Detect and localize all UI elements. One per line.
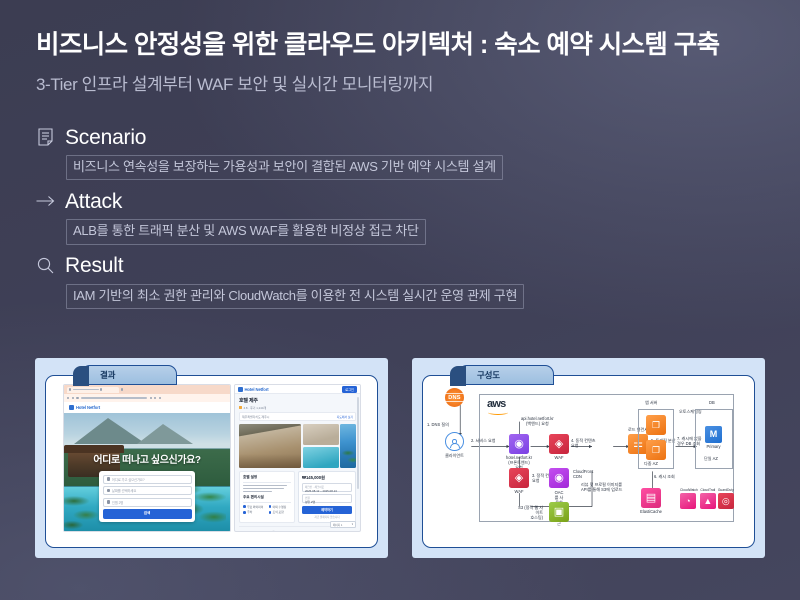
amenity-item: 무료 와이파이 [243, 505, 266, 509]
divider [243, 482, 291, 483]
monitoring-services: CloudWatch ◔ CloudTrail ▲ GuardDuty ◎ [680, 488, 734, 509]
section-title: Attack [65, 191, 122, 212]
edge-label-4: 4. 동적 컨텐츠 요청 [571, 438, 596, 448]
edge-label-6: 6. 캐시 조회 [654, 474, 675, 479]
node-dns: DNS DNS [445, 388, 464, 407]
browser-chrome [64, 385, 230, 394]
cloudwatch-icon: ◔ [680, 493, 696, 509]
hotel-detail-window: Hotel Netfort 로그인 호텔 제주 4.8 · 후기 1,240개 [234, 384, 361, 532]
panel-tab-result[interactable]: 결과 [81, 365, 177, 385]
brand-logo-icon [238, 387, 243, 392]
date-range-field[interactable]: 체크인 · 체크아웃 2025-08-12 ~ 2025-08-13 [302, 483, 352, 492]
panel-card-architecture: aws DNS DNS 1. DNS 질의 클라이언트 [422, 375, 755, 548]
panel-tab-label: 결과 [100, 369, 115, 381]
elasticache-icon: ▤ [641, 488, 661, 508]
reload-icon[interactable] [76, 397, 78, 399]
browser-url-bar[interactable] [64, 394, 230, 402]
check-icon [243, 511, 246, 514]
amenity-label: 조식 포함 [273, 510, 284, 514]
detail-body: 호텔 제주 4.8 · 후기 1,240개 제주특별자치도 제주시 지도에서 보… [235, 394, 360, 532]
destination-input[interactable]: 어디로 가고 싶으신가요? [103, 475, 192, 484]
db-label: DB [709, 400, 715, 405]
close-icon[interactable] [100, 388, 102, 390]
node-cloudfront-frontend: ◉ hotel.netfort.kr (프론트엔드) 요청 [509, 434, 529, 454]
menu-icon[interactable] [159, 397, 161, 399]
person-icon [107, 500, 110, 503]
section-description-wrap: 비즈니스 연속성을 보장하는 가용성과 보안이 결합된 AWS 기반 예약 시스… [36, 155, 776, 180]
guest-field-value: 성인 2명 [305, 500, 349, 504]
aws-smile-icon [488, 410, 508, 415]
hotel-name: 호텔 제주 [239, 397, 356, 404]
landing-page-window: Hotel Netfort 어디로 떠나고 싶으신가요? [63, 384, 231, 532]
date-placeholder: 날짜를 선택하세요 [112, 488, 136, 493]
db-caption: Primary [706, 444, 720, 449]
new-tab-icon[interactable] [121, 388, 123, 390]
panel-tab-label: 구성도 [477, 369, 500, 381]
site-brand[interactable]: Hotel Netfort [64, 402, 230, 413]
back-icon[interactable] [67, 397, 69, 399]
mountain-shape [74, 418, 146, 444]
search-card: 어디로 가고 싶으신가요? 날짜를 선택하세요 인원 2명 [99, 471, 195, 522]
forward-icon[interactable] [72, 397, 74, 399]
booking-widget: ₩145,000원 체크인 · 체크아웃 2025-08-12 ~ 2025-0… [298, 471, 356, 523]
detail-columns: 호텔 설명 주요 편의시설 무료 와이파이 야외 수영장 [239, 471, 356, 523]
section-description-wrap: IAM 기반의 최소 권한 관리와 CloudWatch를 이용한 전 시스템 … [36, 284, 776, 309]
amenity-label: 주차 [247, 510, 252, 514]
monitoring-item: GuardDuty ◎ [718, 488, 734, 509]
amenity-heading: 주요 편의시설 [243, 495, 291, 500]
edge-label-upload: 리뷰 및 프로필 이미지를 API를 통해 S3에 업로드 [581, 482, 622, 492]
book-button[interactable]: 예약하기 [302, 506, 352, 514]
node-label: CloudFront CDN [573, 469, 593, 479]
section-heading: Result [36, 251, 776, 281]
detail-header: Hotel Netfort 로그인 [235, 385, 360, 394]
page-select[interactable]: 페이지 1 ▾ [330, 521, 356, 528]
rating-row: 4.8 · 후기 1,240개 [239, 406, 356, 410]
section-scenario: Scenario 비즈니스 연속성을 보장하는 가용성과 보안이 결합된 AWS… [36, 122, 776, 180]
section-result: Result IAM 기반의 최소 권한 관리와 CloudWatch를 이용한… [36, 251, 776, 309]
destination-placeholder: 어디로 가고 싶으신가요? [112, 477, 145, 482]
edge-label-api: api.hotel.netfort.kr (백엔드) 요청 [521, 416, 554, 426]
section-attack: Attack ALB를 통한 트래픽 분산 및 AWS WAF를 활용한 비정상… [36, 186, 776, 244]
user-client-icon [445, 432, 464, 451]
address-text[interactable] [81, 397, 147, 399]
monitoring-item: CloudWatch ◔ [680, 488, 698, 509]
waf-shield-icon: ◈ [549, 434, 569, 454]
gallery-photo[interactable] [303, 447, 339, 469]
ec2-instance-icon: ❐ [646, 440, 666, 460]
gallery-photo[interactable] [340, 424, 356, 468]
divider [243, 502, 291, 503]
gallery-photo[interactable] [303, 424, 339, 445]
app-server-label: 앱 서버 [645, 400, 657, 406]
node-label: WAF [555, 455, 564, 460]
node-waf-frontend: ◈ WAF [509, 468, 529, 488]
aws-logo-icon: aws [487, 399, 505, 410]
detail-brand[interactable]: Hotel Netfort [238, 387, 269, 392]
node-label: WAF [515, 489, 524, 494]
bookmark-icon[interactable] [150, 397, 152, 399]
date-field-value: 2025-08-12 ~ 2025-08-13 [305, 489, 349, 493]
booking-site-screenshot: Hotel Netfort 어디로 떠나고 싶으신가요? [63, 384, 361, 532]
section-list: Scenario 비즈니스 연속성을 보장하는 가용성과 보안이 결합된 AWS… [36, 122, 776, 315]
check-icon [269, 511, 272, 514]
panel-architecture: 구성도 [412, 358, 765, 558]
check-icon [269, 505, 272, 508]
single-az-label: 단일 AZ [704, 456, 718, 462]
edge-label-2: 2. 서비스 요청 [471, 438, 496, 443]
scrollbar[interactable] [357, 397, 359, 489]
node-cloudfront-cdn: ◉ CloudFront CDN OAC를 사용한 비공개 버킷 접근 [549, 468, 569, 488]
guest-input[interactable]: 인원 2명 [103, 498, 192, 507]
section-heading: Scenario [36, 122, 776, 152]
chevron-down-icon: ▾ [352, 523, 353, 526]
guardduty-icon: ◎ [718, 493, 734, 509]
section-description: IAM 기반의 최소 권한 관리와 CloudWatch를 이용한 전 시스템 … [66, 284, 524, 309]
monitoring-label: CloudTrail [700, 488, 716, 492]
cloudfront-icon: ◉ [549, 468, 569, 488]
section-description: 비즈니스 연속성을 보장하는 가용성과 보안이 결합된 AWS 기반 예약 시스… [66, 155, 503, 180]
panel-result: 결과 [35, 358, 388, 558]
panel-card-result: Hotel Netfort 어디로 떠나고 싶으신가요? [45, 375, 378, 548]
rating-text: 4.8 · 후기 1,240개 [244, 406, 267, 410]
section-title: Scenario [65, 127, 146, 148]
photo-gallery [239, 424, 356, 468]
map-link[interactable]: 지도에서 보기 [337, 415, 353, 419]
extensions-icon[interactable] [154, 397, 156, 399]
page-select-value: 페이지 1 [333, 523, 342, 527]
cloudtrail-icon: ▲ [700, 493, 716, 509]
node-label: ElastiCache [640, 509, 662, 514]
calendar-icon [107, 489, 110, 492]
guest-field[interactable]: 인원 성인 2명 [302, 494, 352, 503]
address-row: 제주특별자치도 제주시 지도에서 보기 [239, 412, 356, 421]
guest-placeholder: 인원 2명 [112, 500, 123, 505]
section-heading: Attack [36, 186, 776, 216]
s3-bucket-icon: ▣ [549, 502, 569, 522]
slide-root: 비즈니스 안정성을 위한 클라우드 아키텍처 : 숙소 예약 시스템 구축 3-… [0, 0, 800, 600]
brand-name: Hotel Netfort [76, 405, 100, 410]
page-subtitle: 3-Tier 인프라 설계부터 WAF 보안 및 실시간 모니터링까지 [36, 70, 776, 95]
node-waf-api: ◈ WAF [549, 434, 569, 454]
brand-name: Hotel Netfort [245, 387, 269, 392]
section-description-wrap: ALB를 통한 트래픽 분산 및 AWS WAF를 활용한 비정상 접근 차단 [36, 219, 776, 244]
route53-dns-icon: DNS [445, 388, 464, 407]
info-text-line [243, 488, 284, 490]
brand-logo-icon [69, 405, 74, 410]
mountain-shape-2 [137, 424, 193, 444]
info-text-line [243, 485, 287, 487]
monitoring-item: CloudTrail ▲ [700, 488, 716, 509]
info-text-line [243, 491, 272, 493]
amenity-grid: 무료 와이파이 야외 수영장 주차 조식 포함 [243, 505, 291, 515]
login-button[interactable]: 로그인 [342, 386, 357, 393]
document-icon [36, 127, 55, 148]
edge-label-1: 1. DNS 질의 [427, 422, 449, 427]
pin-icon [107, 477, 110, 480]
node-app-server-1: ❐ [646, 415, 666, 435]
arrow-right-icon [36, 191, 55, 212]
section-title: Result [65, 255, 123, 276]
node-label: 클라이언트 [445, 453, 464, 458]
page-title: 비즈니스 안정성을 위한 클라우드 아키텍처 : 숙소 예약 시스템 구축 [36, 30, 776, 61]
amenity-label: 무료 와이파이 [247, 505, 263, 509]
check-icon [243, 505, 246, 508]
node-s3: ▣ S3 (정적 웹 사이트 호스팅) [549, 502, 569, 522]
slide-header: 비즈니스 안정성을 위한 클라우드 아키텍처 : 숙소 예약 시스템 구축 3-… [36, 30, 776, 95]
panel-tab-architecture[interactable]: 구성도 [458, 365, 554, 385]
search-icon [36, 255, 55, 276]
amenity-item: 야외 수영장 [269, 505, 292, 509]
node-app-server-2: ❐ [646, 440, 666, 460]
hotel-info-card: 호텔 설명 주요 편의시설 무료 와이파이 야외 수영장 [239, 471, 295, 523]
favicon-icon [69, 388, 71, 390]
section-description: ALB를 통한 트래픽 분산 및 AWS WAF를 활용한 비정상 접근 차단 [66, 219, 426, 244]
cloudfront-icon: ◉ [509, 434, 529, 454]
monitoring-label: CloudWatch [680, 488, 698, 492]
gallery-column [303, 424, 339, 468]
book-note: 지금 결제되지 않습니다 [302, 515, 352, 519]
star-icon [239, 406, 242, 409]
node-elasticache: ▤ ElastiCache [641, 488, 661, 508]
aws-architecture-diagram: aws DNS DNS 1. DNS 질의 클라이언트 [423, 376, 754, 547]
monitoring-label: GuardDuty [718, 488, 734, 492]
screenshot-panels: 결과 [35, 358, 765, 558]
amenity-label: 야외 수영장 [273, 505, 287, 509]
date-input[interactable]: 날짜를 선택하세요 [103, 486, 192, 495]
tab-title-placeholder [73, 389, 99, 391]
gallery-main-photo[interactable] [239, 424, 301, 468]
search-button[interactable]: 검색 [103, 509, 192, 519]
node-client: 클라이언트 [445, 432, 464, 451]
amenity-item: 조식 포함 [269, 510, 292, 514]
info-heading: 호텔 설명 [243, 475, 291, 480]
node-label: S3 (정적 웹 사이트 호스팅) [517, 505, 543, 520]
amenity-item: 주차 [243, 510, 266, 514]
ec2-instance-icon: ❐ [646, 415, 666, 435]
hero-headline: 어디로 떠나고 싶으신가요? [64, 451, 230, 466]
hero-banner: 어디로 떠나고 싶으신가요? 어디로 가고 싶으신가요? 날짜를 선택하세요 [64, 413, 230, 531]
address-text: 제주특별자치도 제주시 [242, 415, 269, 419]
browser-tab[interactable] [67, 387, 119, 393]
node-database: M Primary [705, 426, 722, 443]
multi-az-label: 다중 AZ [644, 461, 658, 467]
price-value: ₩145,000원 [302, 475, 352, 481]
rds-mysql-icon: M [705, 426, 722, 443]
waf-shield-icon: ◈ [509, 468, 529, 488]
